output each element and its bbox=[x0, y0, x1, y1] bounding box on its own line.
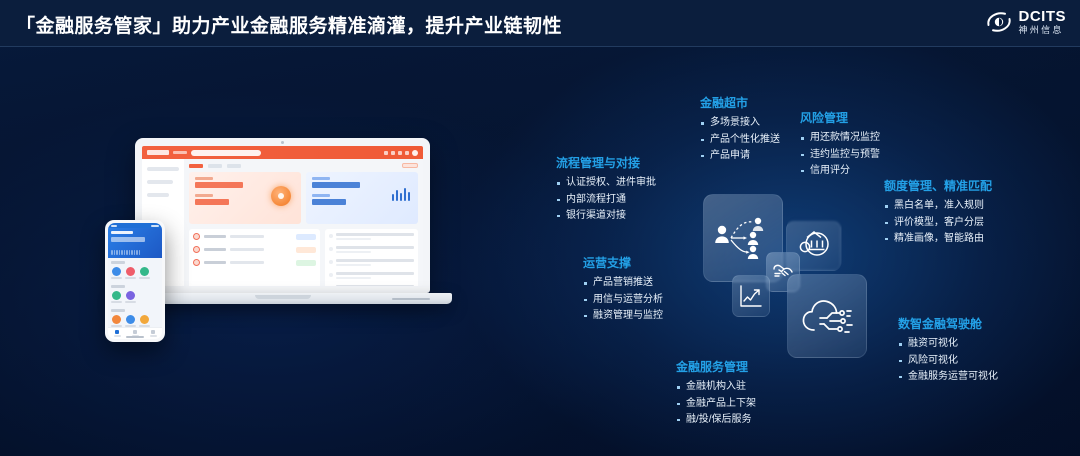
growth-chart-card bbox=[732, 275, 770, 317]
status-badge bbox=[402, 163, 418, 168]
stat-value bbox=[312, 199, 346, 205]
list-item: 融/投/保后服务 bbox=[676, 412, 756, 428]
list-item: 精准画像，智能路由 bbox=[884, 231, 992, 247]
dashboard-nav bbox=[173, 151, 187, 154]
table-row[interactable] bbox=[193, 259, 316, 266]
callout-process: 流程管理与对接 认证授权、进件审批 内部流程打通 银行渠道对接 bbox=[556, 156, 656, 224]
list-item: 风险可视化 bbox=[898, 353, 998, 369]
list-item: 用信与运营分析 bbox=[583, 292, 663, 308]
dashboard-tabs bbox=[189, 163, 418, 168]
orb-graphic bbox=[271, 186, 291, 206]
list-item: 信用评分 bbox=[800, 163, 880, 179]
list-item: 认证授权、进件审批 bbox=[556, 175, 656, 191]
app-icon-tile[interactable] bbox=[125, 315, 136, 328]
callout-cockpit: 数智金融驾驶舱 融资可视化 风险可视化 金融服务运营可视化 bbox=[898, 317, 998, 385]
bullet-icon bbox=[329, 247, 333, 251]
callout-list: 多场景接入 产品个性化推送 产品申请 bbox=[700, 115, 780, 164]
stat-value bbox=[195, 199, 229, 205]
logo-text: DCITS 神州信息 bbox=[1019, 9, 1067, 35]
list-item: 多场景接入 bbox=[700, 115, 780, 131]
laptop-camera-icon bbox=[281, 141, 284, 144]
callout-list: 黑白名单，准入规则 评价模型，客户分层 精准画像，智能路由 bbox=[884, 198, 992, 247]
phone-section-2 bbox=[108, 282, 162, 303]
callout-title: 数智金融驾驶舱 bbox=[898, 317, 998, 331]
phone-device bbox=[105, 220, 165, 342]
status-dot-icon bbox=[193, 259, 200, 266]
stat-label bbox=[312, 194, 330, 197]
banner-subtitle bbox=[111, 237, 145, 242]
brand-logo: DCITS 神州信息 bbox=[984, 7, 1067, 37]
avatar[interactable] bbox=[412, 150, 418, 156]
row-action-button[interactable] bbox=[296, 247, 316, 253]
dashboard-topbar bbox=[142, 146, 423, 159]
tab-home[interactable] bbox=[108, 328, 126, 339]
callout-title: 运营支撑 bbox=[583, 256, 663, 270]
device-mockup-group bbox=[105, 138, 455, 348]
app-icon-tile[interactable] bbox=[125, 291, 136, 304]
phone-home-indicator bbox=[126, 336, 144, 338]
clock-icon bbox=[111, 225, 117, 227]
callout-list: 用还款情况监控 违约监控与预警 信用评分 bbox=[800, 130, 880, 179]
row-action-button[interactable] bbox=[296, 260, 316, 266]
bullet-icon bbox=[329, 234, 333, 238]
dashboard-logo bbox=[147, 150, 169, 155]
bullet-icon bbox=[329, 273, 333, 277]
tab-third[interactable] bbox=[227, 164, 241, 168]
list-item: 银行渠道对接 bbox=[556, 208, 656, 224]
logo-cn-text: 神州信息 bbox=[1019, 26, 1067, 35]
callout-risk: 风险管理 用还款情况监控 违约监控与预警 信用评分 bbox=[800, 111, 880, 179]
sidebar-item[interactable] bbox=[147, 180, 173, 184]
status-dot-icon bbox=[193, 246, 200, 253]
banner-title bbox=[111, 231, 133, 234]
cloud-tech-icon bbox=[800, 292, 854, 340]
customer-network-icon bbox=[713, 214, 773, 262]
bank-coin-icon bbox=[798, 227, 832, 261]
stat-label bbox=[195, 194, 213, 197]
callout-list: 认证授权、进件审批 内部流程打通 银行渠道对接 bbox=[556, 175, 656, 224]
slide-header: 「金融服务管家」助力产业金融服务精准滴灌，提升产业链韧性 DCITS 神州信息 bbox=[0, 0, 1080, 47]
callout-title: 金融服务管理 bbox=[676, 360, 756, 374]
gear-icon[interactable] bbox=[398, 151, 402, 155]
stat-card-financing bbox=[189, 172, 301, 224]
tab-second[interactable] bbox=[208, 164, 222, 168]
tab-profile[interactable] bbox=[144, 328, 162, 339]
status-dot-icon bbox=[193, 233, 200, 240]
callout-title: 额度管理、精准匹配 bbox=[884, 179, 992, 193]
page-title: 「金融服务管家」助力产业金融服务精准滴灌，提升产业链韧性 bbox=[16, 11, 562, 38]
dcits-swirl-icon bbox=[984, 7, 1014, 37]
app-icon-tile[interactable] bbox=[139, 267, 150, 280]
stat-value bbox=[312, 182, 360, 188]
help-icon[interactable] bbox=[405, 151, 409, 155]
banner-bars-graphic bbox=[111, 250, 140, 255]
list-item[interactable] bbox=[329, 272, 414, 281]
callout-list: 融资可视化 风险可视化 金融服务运营可视化 bbox=[898, 336, 998, 385]
phone-section-1 bbox=[108, 258, 162, 279]
laptop-device bbox=[135, 138, 430, 293]
app-icon-tile[interactable] bbox=[111, 267, 122, 280]
list-item[interactable] bbox=[329, 285, 414, 286]
sidebar-item[interactable] bbox=[147, 167, 179, 171]
list-item: 黑白名单，准入规则 bbox=[884, 198, 992, 214]
list-item: 金融机构入驻 bbox=[676, 379, 756, 395]
dashboard-search-input[interactable] bbox=[191, 150, 261, 156]
laptop-notch bbox=[255, 295, 311, 299]
dashboard-lower bbox=[189, 229, 418, 286]
growth-chart-icon bbox=[738, 283, 764, 309]
list-item: 产品申请 bbox=[700, 148, 780, 164]
cloud-tech-card bbox=[787, 274, 867, 358]
callout-list: 产品营销推送 用信与运营分析 融资管理与监控 bbox=[583, 275, 663, 324]
list-item: 产品个性化推送 bbox=[700, 132, 780, 148]
laptop-screen bbox=[142, 146, 423, 286]
table-row[interactable] bbox=[193, 246, 316, 253]
callout-quota: 额度管理、精准匹配 黑白名单，准入规则 评价模型，客户分层 精准画像，智能路由 bbox=[884, 179, 992, 247]
callout-list: 金融机构入驻 金融产品上下架 融/投/保后服务 bbox=[676, 379, 756, 428]
callout-title: 金融超市 bbox=[700, 96, 780, 110]
table-row[interactable] bbox=[193, 233, 316, 240]
stat-card-credit bbox=[306, 172, 418, 224]
app-icon-grid bbox=[111, 291, 159, 304]
app-icon-grid bbox=[111, 267, 159, 280]
section-label bbox=[111, 309, 125, 312]
phone-hero-banner bbox=[108, 228, 162, 258]
list-item[interactable] bbox=[329, 246, 414, 255]
list-item[interactable] bbox=[329, 233, 414, 242]
app-icon-tile[interactable] bbox=[111, 291, 122, 304]
dashboard-stat-cards bbox=[189, 172, 418, 224]
bullet-icon bbox=[329, 260, 333, 264]
battery-icon bbox=[151, 225, 159, 227]
dashboard-main bbox=[184, 159, 423, 286]
bar-chart-graphic bbox=[392, 188, 411, 201]
section-label bbox=[111, 261, 125, 264]
row-action-button[interactable] bbox=[296, 234, 316, 240]
app-icon-tile[interactable] bbox=[139, 315, 150, 328]
stat-value bbox=[195, 182, 243, 188]
list-item: 金融产品上下架 bbox=[676, 396, 756, 412]
phone-screen bbox=[108, 223, 162, 339]
bell-icon[interactable] bbox=[384, 151, 388, 155]
stat-label bbox=[312, 177, 330, 180]
list-item: 金融服务运营可视化 bbox=[898, 369, 998, 385]
laptop-foot bbox=[392, 298, 430, 300]
app-icon-tile[interactable] bbox=[125, 267, 136, 280]
section-label bbox=[111, 285, 125, 288]
callout-market: 金融超市 多场景接入 产品个性化推送 产品申请 bbox=[700, 96, 780, 164]
dashboard-toolbar-icons bbox=[384, 150, 418, 156]
tab-overview[interactable] bbox=[189, 164, 203, 168]
dashboard-news-list bbox=[325, 229, 418, 286]
list-item[interactable] bbox=[329, 259, 414, 268]
callout-service: 金融服务管理 金融机构入驻 金融产品上下架 融/投/保后服务 bbox=[676, 360, 756, 428]
icon-card-cluster bbox=[690, 190, 880, 370]
callout-title: 风险管理 bbox=[800, 111, 880, 125]
list-item: 融资管理与监控 bbox=[583, 308, 663, 324]
list-item: 内部流程打通 bbox=[556, 192, 656, 208]
slide-canvas: 「金融服务管家」助力产业金融服务精准滴灌，提升产业链韧性 DCITS 神州信息 bbox=[0, 0, 1080, 456]
logo-en-text: DCITS bbox=[1019, 9, 1067, 24]
message-icon[interactable] bbox=[391, 151, 395, 155]
list-item: 用还款情况监控 bbox=[800, 130, 880, 146]
callout-title: 流程管理与对接 bbox=[556, 156, 656, 170]
sidebar-item[interactable] bbox=[147, 193, 169, 197]
list-item: 评价模型，客户分层 bbox=[884, 215, 992, 231]
dashboard-task-list bbox=[189, 229, 320, 286]
callout-operations: 运营支撑 产品营销推送 用信与运营分析 融资管理与监控 bbox=[583, 256, 663, 324]
app-icon-tile[interactable] bbox=[111, 315, 122, 328]
list-item: 产品营销推送 bbox=[583, 275, 663, 291]
list-item: 违约监控与预警 bbox=[800, 147, 880, 163]
dashboard-body bbox=[142, 159, 423, 286]
list-item: 融资可视化 bbox=[898, 336, 998, 352]
stat-label bbox=[195, 177, 213, 180]
